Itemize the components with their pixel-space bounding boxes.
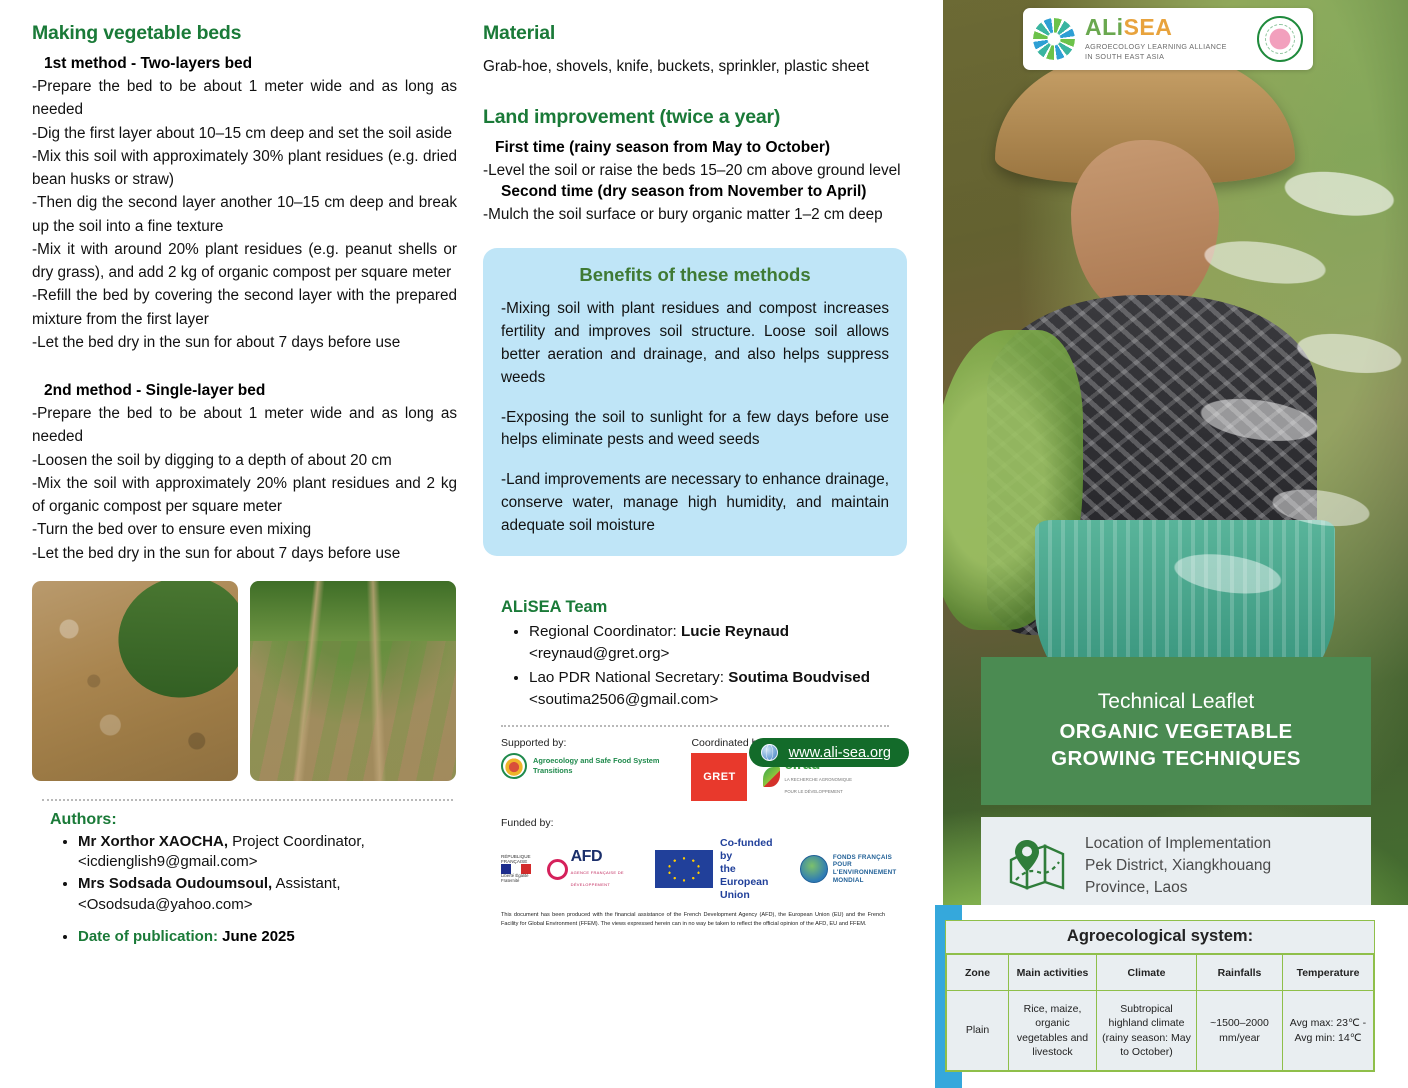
supported-by-block: Supported by: Agroecology and Safe Food … (501, 737, 691, 801)
partner-seal-icon (1257, 16, 1303, 62)
method1-title: 1st method - Two-layers bed (32, 55, 457, 73)
afd-logo: AFD AGENCE FRANÇAISE DE DÉVELOPPEMENT (547, 849, 639, 889)
list-item: Lao PDR National Secretary: Soutima Boud… (529, 667, 907, 710)
authors-list: Mr Xorthor XAOCHA, Project Coordinator, … (32, 832, 457, 947)
author-email: <icdienglish9@gmail.com> (78, 853, 257, 870)
agroecological-system-table: Agroecological system: Zone Main activit… (945, 920, 1375, 1072)
author-role: Assistant, (272, 875, 340, 892)
afd-ring-icon (547, 859, 568, 880)
leaflet-title-card: Technical Leaflet ORGANIC VEGETABLE GROW… (981, 657, 1371, 805)
col-header-zone: Zone (947, 955, 1009, 991)
author-role: Project Coordinator, (228, 833, 365, 850)
page-title: Making vegetable beds (32, 22, 457, 45)
team-role: Regional Coordinator: (529, 623, 681, 640)
cirad-tagline: LA RECHERCHE AGRONOMIQUE POUR LE DÉVELOP… (784, 777, 852, 794)
afd-tagline: AGENCE FRANÇAISE DE DÉVELOPPEMENT (571, 870, 624, 887)
authors-heading: Authors: (50, 811, 457, 829)
team-role: Lao PDR National Secretary: (529, 669, 728, 686)
divider (42, 799, 453, 801)
french-republic-logo: RÉPUBLIQUE FRANÇAISE Liberté Égalité Fra… (501, 854, 531, 884)
european-union-logo: Co-funded by the European Union (655, 837, 784, 903)
alisea-wordmark: ALiSEA AGROECOLOGY LEARNING ALLIANCE IN … (1085, 16, 1227, 61)
photo-gallery (32, 581, 457, 781)
photo-prepared-bed (32, 581, 238, 781)
first-time-title: First time (rainy season from May to Oct… (483, 139, 907, 157)
ffem-logo: FONDS FRANÇAIS POUR L'ENVIRONNEMENT MOND… (800, 854, 901, 885)
location-card: Location of Implementation Pek District,… (981, 817, 1371, 915)
column-left: Making vegetable beds 1st method - Two-l… (0, 0, 475, 1088)
table-title: Agroecological system: (946, 921, 1374, 954)
leaflet-page: Making vegetable beds 1st method - Two-l… (0, 0, 1408, 1088)
alisea-burst-icon (1033, 18, 1075, 60)
col-header-temperature: Temperature (1283, 955, 1374, 991)
benefits-box: Benefits of these methods -Mixing soil w… (483, 248, 907, 556)
funded-by-block: Funded by: RÉPUBLIQUE FRANÇAISE Liberté … (501, 817, 901, 929)
eu-flag-icon (655, 850, 713, 888)
list-item: Mr Xorthor XAOCHA, Project Coordinator, … (78, 832, 457, 873)
col-header-climate: Climate (1097, 955, 1197, 991)
team-email: <reynaud@gret.org> (529, 645, 669, 662)
supported-by-label: Supported by: (501, 737, 691, 749)
leaflet-main-title: ORGANIC VEGETABLE GROWING TECHNIQUES (1051, 719, 1301, 772)
col-header-rainfalls: Rainfalls (1197, 955, 1283, 991)
map-pin-icon (1007, 838, 1069, 894)
author-name: Mrs Sodsada Oudoumsoul, (78, 875, 272, 892)
spacer (32, 354, 457, 382)
alisea-tagline: AGROECOLOGY LEARNING ALLIANCE IN SOUTH E… (1085, 42, 1227, 61)
team-name: Soutima Boudvised (728, 669, 870, 686)
bottom-blue-band: Agroecological system: Zone Main activit… (935, 905, 1408, 1088)
cell-climate: Subtropical highland climate (rainy seas… (1097, 991, 1197, 1071)
aest-logo-text: Agroecology and Safe Food System Transit… (533, 756, 691, 775)
method2-body: -Prepare the bed to be about 1 meter wid… (32, 402, 457, 565)
table-header-row: Zone Main activities Climate Rainfalls T… (947, 955, 1374, 991)
team-email: <soutima2506@gmail.com> (529, 691, 718, 708)
method2-title: 2nd method - Single-layer bed (32, 382, 457, 400)
benefits-title: Benefits of these methods (501, 264, 889, 286)
author-email: <Osodsuda@yahoo.com> (78, 896, 253, 913)
eu-funding-text: Co-funded by the European Union (720, 837, 784, 903)
farmer-face-shape (1071, 140, 1219, 316)
divider (501, 725, 889, 727)
cell-rainfalls: ~1500–2000 mm/year (1197, 991, 1283, 1071)
pubdate-label: Date of publication: (78, 928, 218, 945)
team-heading: ALiSEA Team (501, 598, 907, 617)
team-block: ALiSEA Team Regional Coordinator: Lucie … (483, 598, 907, 710)
globe-icon (761, 744, 778, 761)
list-item: Regional Coordinator: Lucie Reynaud <rey… (529, 621, 907, 664)
list-item-publication-date: Date of publication: June 2025 (78, 927, 457, 947)
benefit-item: -Exposing the soil to sunlight for a few… (501, 407, 889, 453)
alisea-logo-card: ALiSEA AGROECOLOGY LEARNING ALLIANCE IN … (1023, 8, 1313, 70)
leaf-icon (763, 767, 780, 787)
aest-emblem-icon (501, 753, 527, 779)
website-url[interactable]: www.ali-sea.org (789, 745, 891, 761)
col-header-main-activities: Main activities (1009, 955, 1097, 991)
first-time-body: -Level the soil or raise the beds 15–20 … (483, 159, 907, 182)
cell-zone: Plain (947, 991, 1009, 1071)
alisea-name-part1: ALi (1085, 14, 1124, 40)
website-link-badge[interactable]: www.ali-sea.org (749, 738, 909, 767)
material-body: Grab-hoe, shovels, knife, buckets, sprin… (483, 55, 907, 78)
cell-main-activities: Rice, maize, organic vegetables and live… (1009, 991, 1097, 1071)
location-text: Location of Implementation Pek District,… (1085, 833, 1271, 899)
table-row: Plain Rice, maize, organic vegetables an… (947, 991, 1374, 1071)
land-improvement-heading: Land improvement (twice a year) (483, 106, 907, 129)
cell-temperature: Avg max: 23℃ - Avg min: 14℃ (1283, 991, 1374, 1071)
list-item: Mrs Sodsada Oudoumsoul, Assistant, <Osod… (78, 874, 457, 915)
pubdate-value: June 2025 (222, 928, 295, 945)
column-right: ALiSEA AGROECOLOGY LEARNING ALLIANCE IN … (935, 0, 1408, 1088)
funder-logos: RÉPUBLIQUE FRANÇAISE Liberté Égalité Fra… (501, 837, 901, 903)
spacer (483, 78, 907, 106)
team-name: Lucie Reynaud (681, 623, 789, 640)
second-time-body: -Mulch the soil surface or bury organic … (483, 203, 907, 226)
benefit-item: -Mixing soil with plant residues and com… (501, 298, 889, 390)
material-heading: Material (483, 22, 907, 45)
second-time-title: Second time (dry season from November to… (483, 183, 907, 201)
author-name: Mr Xorthor XAOCHA, (78, 833, 228, 850)
afd-wordmark: AFD (571, 848, 602, 865)
column-middle: Material Grab-hoe, shovels, knife, bucke… (475, 0, 935, 1088)
fr-motto-text: Liberté Égalité Fraternité (501, 874, 531, 883)
funded-by-label: Funded by: (501, 817, 901, 829)
ffem-text: FONDS FRANÇAIS POUR L'ENVIRONNEMENT MOND… (833, 854, 901, 885)
fr-republic-text: RÉPUBLIQUE FRANÇAISE (501, 854, 531, 864)
leaflet-subtitle: Technical Leaflet (1098, 690, 1254, 714)
funding-disclaimer: This document has been produced with the… (501, 911, 901, 928)
photo-planted-rows (250, 581, 456, 781)
gret-logo: GRET (691, 753, 747, 801)
method1-body: -Prepare the bed to be about 1 meter wid… (32, 75, 457, 354)
benefit-item: -Land improvements are necessary to enha… (501, 469, 889, 538)
team-list: Regional Coordinator: Lucie Reynaud <rey… (501, 621, 907, 710)
alisea-name-part2: SEA (1124, 14, 1173, 40)
globe-icon (800, 855, 828, 883)
aest-logo: Agroecology and Safe Food System Transit… (501, 753, 691, 779)
